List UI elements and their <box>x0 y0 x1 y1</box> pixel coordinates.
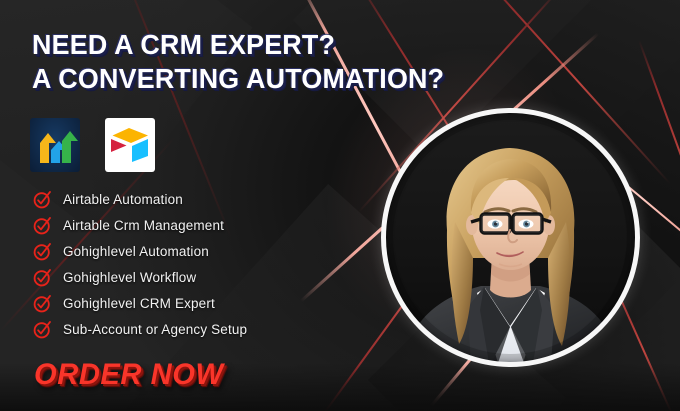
gohighlevel-logo <box>30 118 80 172</box>
arrow-up-green-icon <box>62 131 71 163</box>
list-item-label: Gohighlevel Workflow <box>63 270 196 285</box>
list-item-label: Airtable Crm Management <box>63 218 224 233</box>
list-item: Airtable Automation <box>33 186 247 212</box>
list-item-label: Gohighlevel CRM Expert <box>63 296 215 311</box>
headline-line-2: A CONVERTING AUTOMATION? <box>32 62 444 96</box>
portrait <box>381 108 640 367</box>
check-circle-icon <box>33 216 52 235</box>
arrow-up-blue-icon <box>51 141 60 163</box>
list-item-label: Gohighlevel Automation <box>63 244 209 259</box>
list-item: Gohighlevel CRM Expert <box>33 290 247 316</box>
list-item-label: Airtable Automation <box>63 192 183 207</box>
airtable-logo <box>105 118 155 172</box>
order-now-button[interactable]: ORDER NOW <box>34 358 224 392</box>
list-item: Gohighlevel Automation <box>33 238 247 264</box>
list-item: Gohighlevel Workflow <box>33 264 247 290</box>
check-circle-icon <box>33 320 52 339</box>
check-circle-icon <box>33 294 52 313</box>
check-circle-icon <box>33 268 52 287</box>
logo-row <box>30 118 155 172</box>
gig-banner: NEED A CRM EXPERT? A CONVERTING AUTOMATI… <box>0 0 680 411</box>
check-circle-icon <box>33 242 52 261</box>
list-item: Sub-Account or Agency Setup <box>33 316 247 342</box>
feature-list: Airtable Automation Airtable Crm Managem… <box>33 186 247 342</box>
arrow-up-yellow-icon <box>40 133 49 163</box>
list-item: Airtable Crm Management <box>33 212 247 238</box>
page-title: NEED A CRM EXPERT? A CONVERTING AUTOMATI… <box>32 28 461 97</box>
check-circle-icon <box>33 190 52 209</box>
portrait-ring <box>381 108 640 367</box>
list-item-label: Sub-Account or Agency Setup <box>63 322 247 337</box>
headline-line-1: NEED A CRM EXPERT? <box>32 28 444 62</box>
